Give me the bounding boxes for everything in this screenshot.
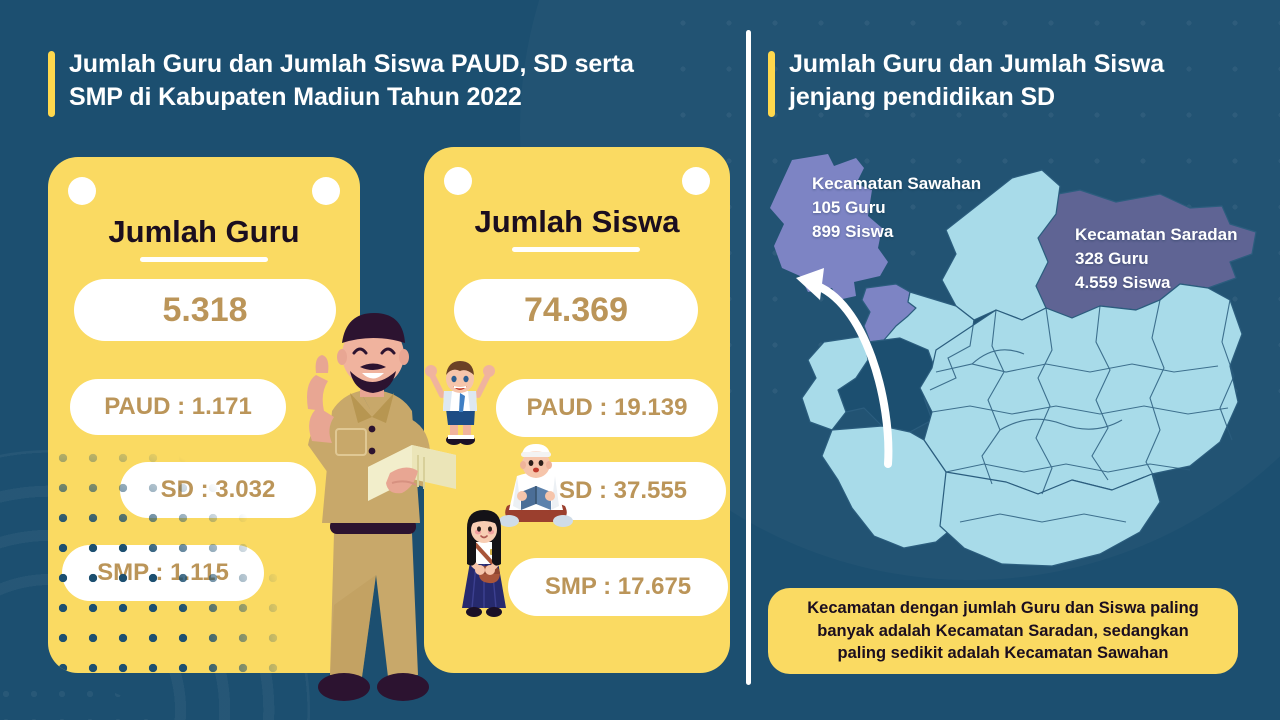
- left-title-text: Jumlah Guru dan Jumlah Siswa PAUD, SD se…: [69, 48, 634, 113]
- summary-note-text: Kecamatan dengan jumlah Guru dan Siswa p…: [807, 597, 1199, 665]
- card-guru-underline: [140, 257, 268, 262]
- right-panel-title: Jumlah Guru dan Jumlah Siswa jenjang pen…: [768, 48, 1238, 117]
- card-siswa-underline: [512, 247, 640, 252]
- card-punch-hole-left-icon: [68, 177, 96, 205]
- panel-divider: [746, 30, 751, 685]
- right-title-text: Jumlah Guru dan Jumlah Siswa jenjang pen…: [789, 48, 1164, 113]
- card-guru-heading: Jumlah Guru: [48, 214, 360, 250]
- student-smp-illustration: [448, 508, 520, 626]
- card-siswa-row-paud: PAUD : 19.139: [496, 379, 718, 437]
- student-paud-illustration: [424, 355, 496, 447]
- map-callout-saradan: Kecamatan Saradan 328 Guru 4.559 Siswa: [1075, 223, 1238, 295]
- card-punch-hole-right-icon: [312, 177, 340, 205]
- card-guru-row-smp: SMP : 1.115: [62, 545, 264, 601]
- card-punch-hole-right-icon: [682, 167, 710, 195]
- left-panel-title: Jumlah Guru dan Jumlah Siswa PAUD, SD se…: [48, 48, 708, 117]
- summary-note-box: Kecamatan dengan jumlah Guru dan Siswa p…: [768, 588, 1238, 674]
- map-callout-sawahan: Kecamatan Sawahan 105 Guru 899 Siswa: [812, 172, 981, 244]
- card-siswa-total-value: 74.369: [454, 279, 698, 341]
- card-punch-hole-left-icon: [444, 167, 472, 195]
- card-siswa-heading: Jumlah Siswa: [424, 204, 730, 240]
- card-guru-row-paud: PAUD : 1.171: [70, 379, 286, 435]
- card-siswa-row-smp: SMP : 17.675: [508, 558, 728, 616]
- title-accent-bar: [768, 51, 775, 117]
- title-accent-bar: [48, 51, 55, 117]
